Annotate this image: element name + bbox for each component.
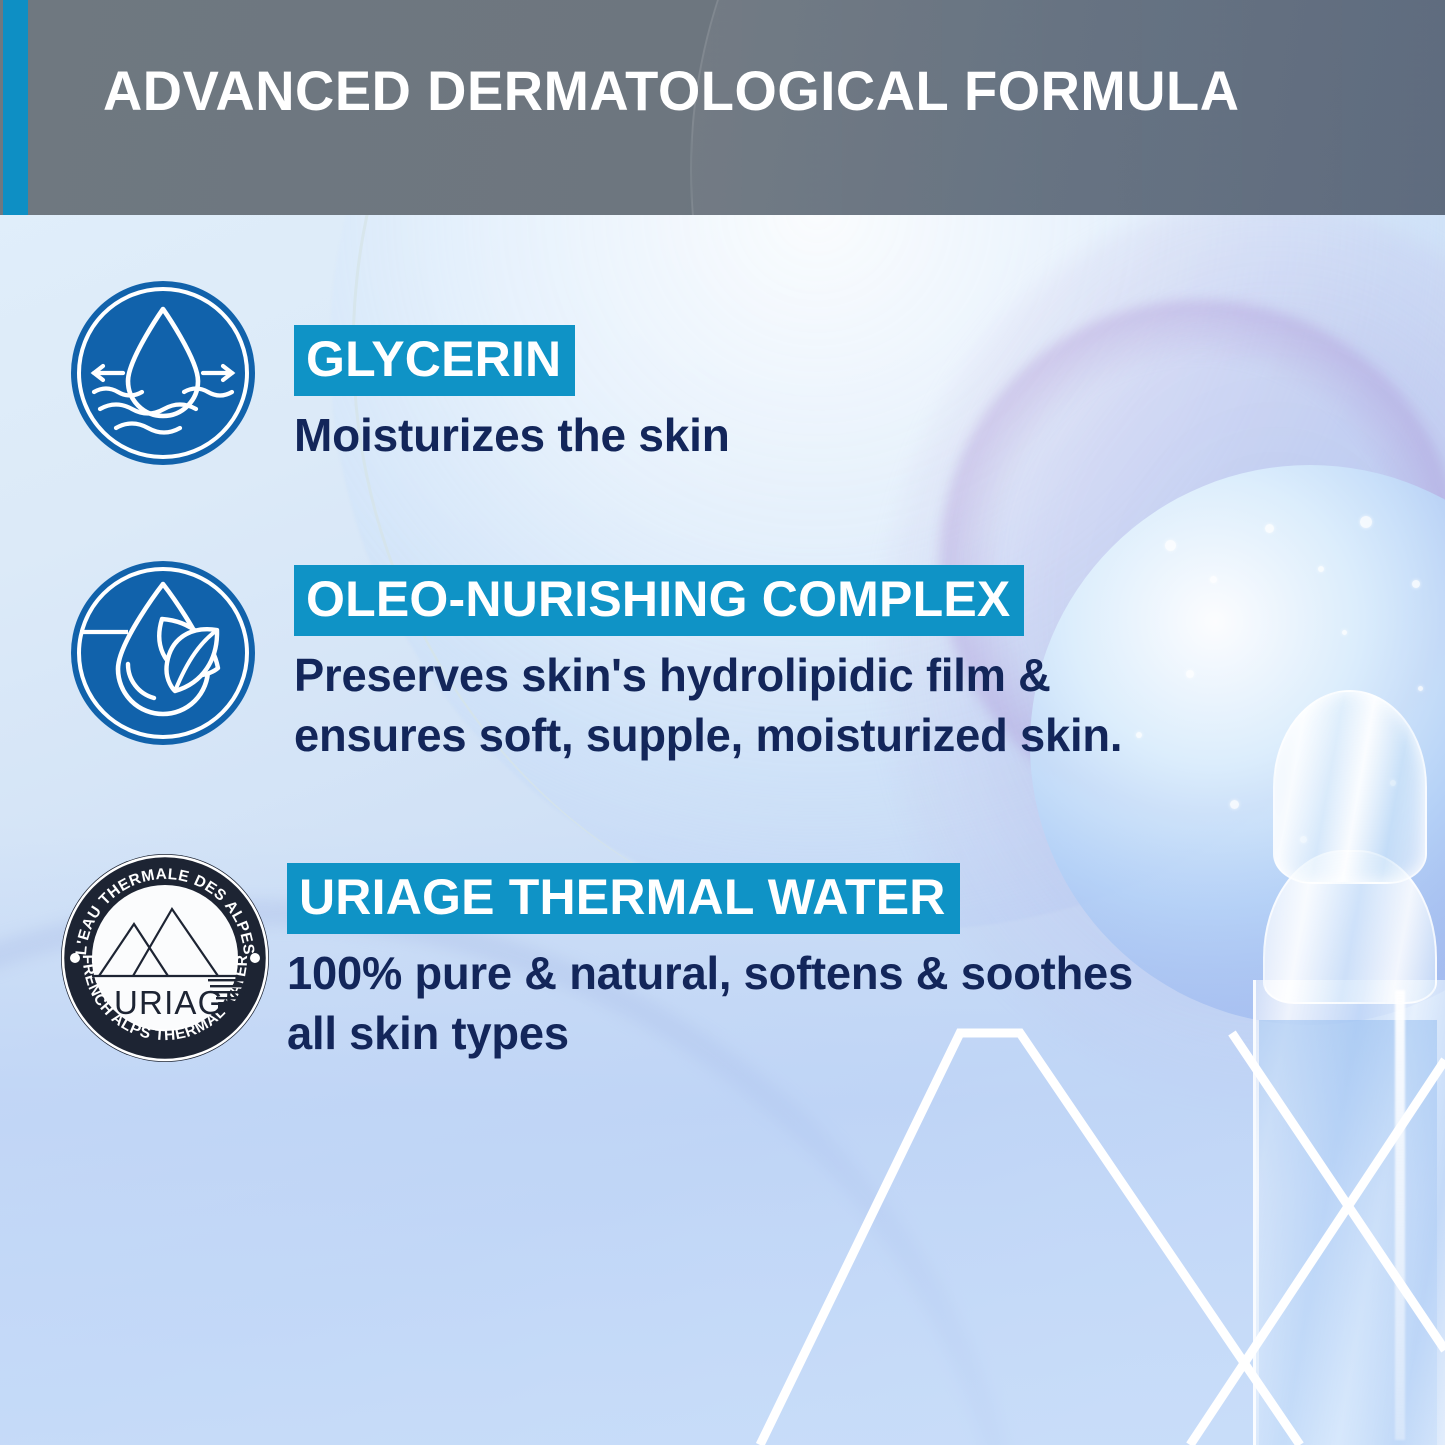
feature-text-oleo-nurishing-complex: OLEO-NURISHING COMPLEX Preserves skin's … — [294, 565, 1404, 766]
feature-tag-uriage-thermal-water: URIAGE THERMAL WATER — [287, 863, 960, 934]
water-drop-hydration-icon — [70, 280, 256, 471]
feature-text-glycerin: GLYCERIN Moisturizes the skin — [294, 325, 1354, 466]
drop-leaf-nourishing-icon — [70, 560, 256, 751]
feature-description-oleo-nurishing-complex: Preserves skin's hydrolipidic film & ens… — [294, 646, 1387, 766]
uriage-thermal-water-seal-icon: L'EAU THERMALE DES ALPES FRENCH ALPS THE… — [58, 851, 272, 1070]
feature-tag-oleo-nurishing-complex: OLEO-NURISHING COMPLEX — [294, 565, 1024, 636]
feature-description-uriage-thermal-water: 100% pure & natural, softens & soothes a… — [287, 944, 1410, 1064]
feature-description-glycerin: Moisturizes the skin — [294, 406, 1354, 466]
feature-tag-glycerin: GLYCERIN — [294, 325, 575, 396]
feature-text-uriage-thermal-water: URIAGE THERMAL WATER 100% pure & natural… — [287, 863, 1427, 1064]
product-info-panel: ADVANCED DERMATOLOGICAL FORMULA — [0, 0, 1445, 1445]
page-title: ADVANCED DERMATOLOGICAL FORMULA — [103, 63, 1366, 119]
header-accent-bar — [3, 0, 28, 215]
ampoule-vial-image — [1245, 690, 1445, 1445]
header-banner: ADVANCED DERMATOLOGICAL FORMULA — [0, 0, 1445, 215]
